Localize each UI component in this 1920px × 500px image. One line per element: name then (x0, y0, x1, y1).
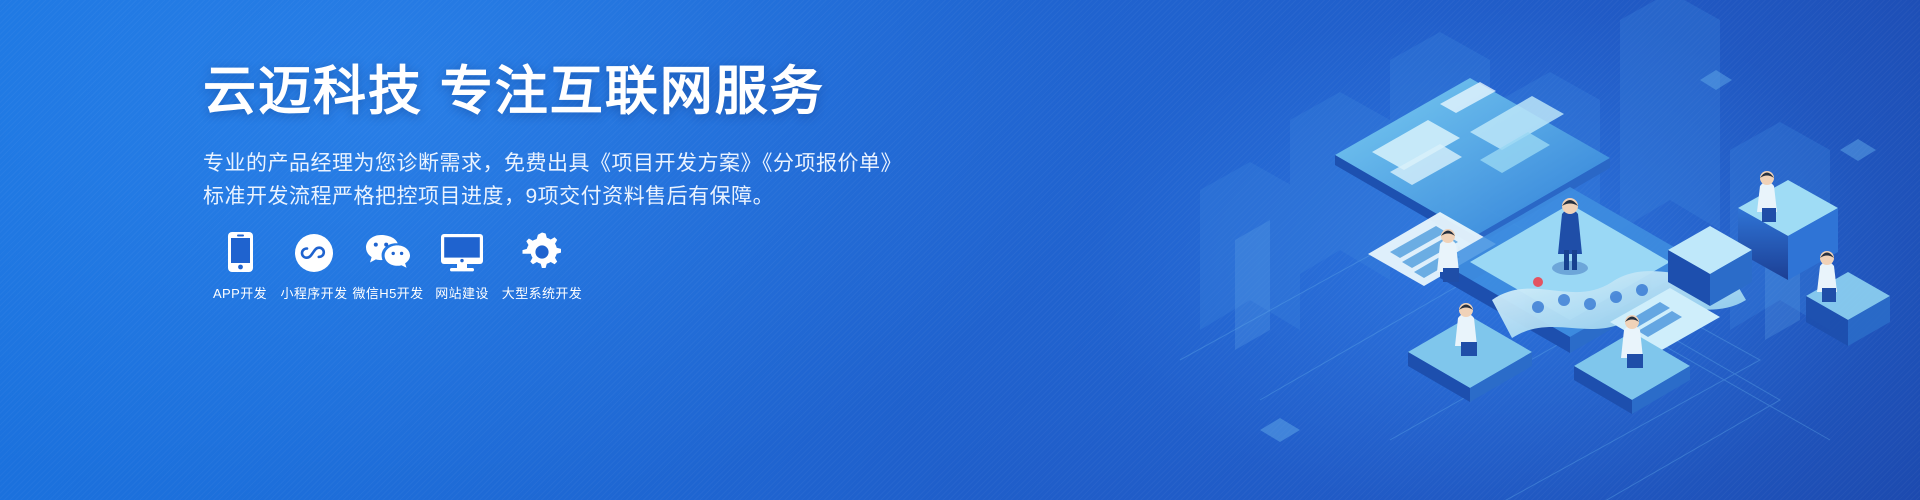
service-label: 微信H5开发 (352, 286, 423, 302)
subtitle-line-2: 标准开发流程严格把控项目进度，9项交付资料售后有保障。 (203, 180, 903, 213)
service-list: APP开发 小程序开发 微信 (203, 228, 585, 302)
service-item-website[interactable]: 网站建设 (425, 228, 499, 302)
gear-icon (522, 228, 562, 272)
service-item-mini-program[interactable]: 小程序开发 (277, 228, 351, 302)
hero-banner: 云迈科技 专注互联网服务 专业的产品经理为您诊断需求，免费出具《项目开发方案》《… (0, 0, 1920, 500)
page-title: 云迈科技 专注互联网服务 (203, 62, 903, 123)
subtitle-line-1: 专业的产品经理为您诊断需求，免费出具《项目开发方案》《分项报价单》 (203, 147, 903, 180)
service-item-large-system[interactable]: 大型系统开发 (499, 228, 585, 302)
service-label: 大型系统开发 (502, 286, 582, 302)
service-label: APP开发 (213, 286, 267, 302)
service-item-wechat-h5[interactable]: 微信H5开发 (351, 228, 425, 302)
service-label: 网站建设 (435, 286, 489, 302)
monitor-icon (441, 228, 483, 272)
mobile-phone-icon (228, 228, 253, 272)
hero-copy: 云迈科技 专注互联网服务 专业的产品经理为您诊断需求，免费出具《项目开发方案》《… (203, 62, 903, 213)
isometric-illustration (1140, 0, 1920, 500)
service-label: 小程序开发 (280, 286, 347, 302)
mini-program-icon (295, 228, 333, 272)
service-item-app[interactable]: APP开发 (203, 228, 277, 302)
wechat-icon (365, 228, 411, 272)
